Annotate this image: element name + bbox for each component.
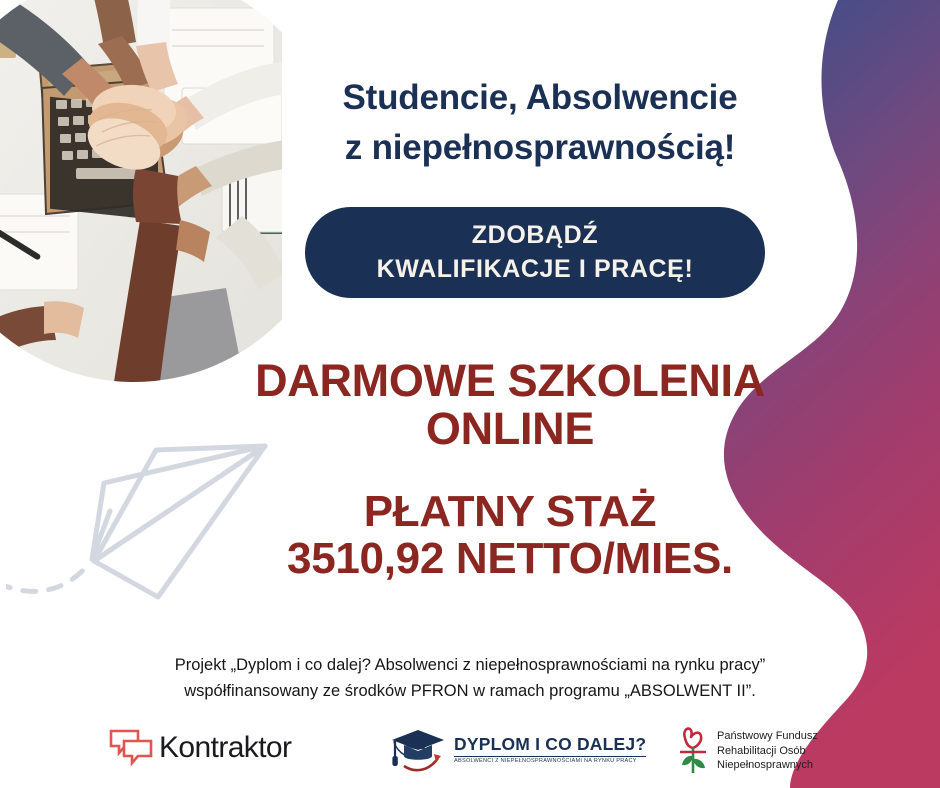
- cta-line-2: KWALIFIKACJE I PRACĘ!: [377, 253, 694, 286]
- project-funding-note: Projekt „Dyplom i co dalej? Absolwenci z…: [70, 652, 870, 704]
- dyplom-wordmark: DYPLOM I CO DALEJ? ABSOLWENCI Z NIEPEŁNO…: [454, 736, 646, 765]
- tulip-icon: [678, 726, 712, 776]
- headline-line-2: z niepełnosprawnością!: [275, 123, 805, 173]
- page-title: Studencie, Absolwencie z niepełnosprawno…: [275, 73, 805, 172]
- internship-line-1: PŁATNY STAŻ: [200, 488, 820, 535]
- pfron-line-2: Rehabilitacji Osób: [717, 744, 818, 759]
- cta-line-1: ZDOBĄDŹ: [472, 219, 598, 252]
- speech-bubbles-icon: [108, 728, 154, 768]
- team-photo: [0, 0, 282, 382]
- team-stacking-hands-over-desk-photo: [0, 0, 282, 382]
- logo-dyplom: DYPLOM I CO DALEJ? ABSOLWENCI Z NIEPEŁNO…: [388, 724, 646, 776]
- logo-pfron: Państwowy Fundusz Rehabilitacji Osób Nie…: [678, 726, 818, 776]
- internship-line-2: 3510,92 NETTO/MIES.: [200, 535, 820, 582]
- training-heading: DARMOWE SZKOLENIA ONLINE: [200, 357, 820, 453]
- pfron-line-3: Niepełnosprawnych: [717, 758, 818, 773]
- fine-print-line-1: Projekt „Dyplom i co dalej? Absolwenci z…: [70, 652, 870, 678]
- kontraktor-wordmark: Kontraktor: [159, 731, 291, 765]
- training-line-1: DARMOWE SZKOLENIA: [200, 357, 820, 405]
- logo-row: Kontraktor DYPLOM I CO DALEJ? ABSOLWENCI…: [0, 718, 880, 788]
- pfron-wordmark: Państwowy Fundusz Rehabilitacji Osób Nie…: [717, 729, 818, 773]
- internship-heading: PŁATNY STAŻ 3510,92 NETTO/MIES.: [200, 488, 820, 582]
- fine-print-line-2: współfinansowany ze środków PFRON w rama…: [70, 678, 870, 704]
- logo-kontraktor: Kontraktor: [108, 728, 291, 768]
- poster-canvas: Studencie, Absolwencie z niepełnosprawno…: [0, 0, 940, 788]
- dyplom-divider: [454, 756, 646, 757]
- training-line-2: ONLINE: [200, 405, 820, 453]
- dyplom-subtitle: ABSOLWENCI Z NIEPEŁNOSPRAWNOŚCIAMI NA RY…: [454, 759, 646, 765]
- graduation-cap-icon: [388, 724, 448, 776]
- cta-button[interactable]: ZDOBĄDŹ KWALIFIKACJE I PRACĘ!: [305, 207, 765, 298]
- pfron-line-1: Państwowy Fundusz: [717, 729, 818, 744]
- dyplom-title: DYPLOM I CO DALEJ?: [454, 736, 646, 754]
- headline-line-1: Studencie, Absolwencie: [343, 78, 738, 117]
